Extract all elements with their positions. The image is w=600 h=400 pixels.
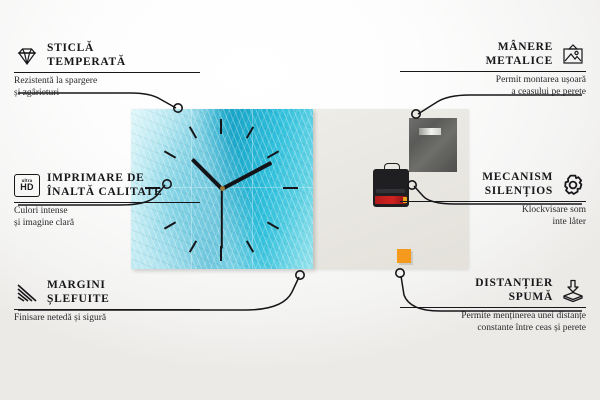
picture-frame-icon xyxy=(560,43,586,67)
metal-hanger-plate xyxy=(409,118,457,172)
feature-title: MECANISM SILENȚIOS xyxy=(482,171,553,198)
glass-pane-line xyxy=(252,109,253,269)
feature-header: DISTANȚIER SPUMĂ xyxy=(400,277,586,307)
ultra-hd-icon: ultra HD xyxy=(14,174,40,198)
gear-icon xyxy=(560,173,586,197)
feature-subtitle: Rezistentă la spargere și zgârieturi xyxy=(14,73,200,99)
feature-high-quality-print: ultra HD IMPRIMARE DE ÎNALTĂ CALITATE Cu… xyxy=(14,172,200,229)
feature-title: DISTANȚIER SPUMĂ xyxy=(475,277,553,304)
feature-polished-edges: MARGINI ȘLEFUITE Finisare netedă și sigu… xyxy=(14,279,200,325)
ultra-hd-badge: ultra HD xyxy=(14,174,40,197)
hatched-edge-icon xyxy=(14,281,40,305)
feature-subtitle: Finisare netedă și sigură xyxy=(14,310,200,325)
hour-tick xyxy=(220,119,222,134)
feature-subtitle: Permite menținerea unei distanțe constan… xyxy=(400,308,586,334)
diamond-icon xyxy=(14,44,40,68)
feature-subtitle: Permit montarea ușoară a ceasului pe per… xyxy=(400,72,586,98)
feature-header: MARGINI ȘLEFUITE xyxy=(14,279,200,309)
feature-header: MÂNERE METALICE xyxy=(400,41,586,71)
feature-foam-spacer: DISTANȚIER SPUMĂ Permite menținerea unei… xyxy=(400,277,586,334)
foam-spacer-pad xyxy=(397,249,411,263)
foam-spacer-icon xyxy=(560,279,586,303)
hour-tick xyxy=(283,187,298,189)
feature-subtitle: Culori intense și imagine clară xyxy=(14,203,200,229)
feature-title: MÂNERE METALICE xyxy=(486,41,553,68)
feature-header: STICLĂ TEMPERATĂ xyxy=(14,42,200,72)
feature-header: ultra HD IMPRIMARE DE ÎNALTĂ CALITATE xyxy=(14,172,200,202)
mechanism-hook xyxy=(384,163,400,172)
feature-metal-handles: MÂNERE METALICE Permit montarea ușoară a… xyxy=(400,41,586,98)
feature-subtitle: Klockvisare som inte låter xyxy=(400,202,586,228)
feature-title: MARGINI ȘLEFUITE xyxy=(47,279,109,306)
hand-center-cap xyxy=(220,186,225,191)
feature-tempered-glass: STICLĂ TEMPERATĂ Rezistentă la spargere … xyxy=(14,42,200,99)
ultra-hd-badge-main: HD xyxy=(20,183,33,192)
product-infographic: STICLĂ TEMPERATĂ Rezistentă la spargere … xyxy=(0,0,600,400)
feature-title: STICLĂ TEMPERATĂ xyxy=(47,42,126,69)
feature-silent-mechanism: MECANISM SILENȚIOS Klockvisare som inte … xyxy=(400,171,586,228)
feature-header: MECANISM SILENȚIOS xyxy=(400,171,586,201)
feature-title: IMPRIMARE DE ÎNALTĂ CALITATE xyxy=(47,172,162,199)
second-hand xyxy=(221,189,223,249)
callout-endpoint xyxy=(296,271,304,279)
